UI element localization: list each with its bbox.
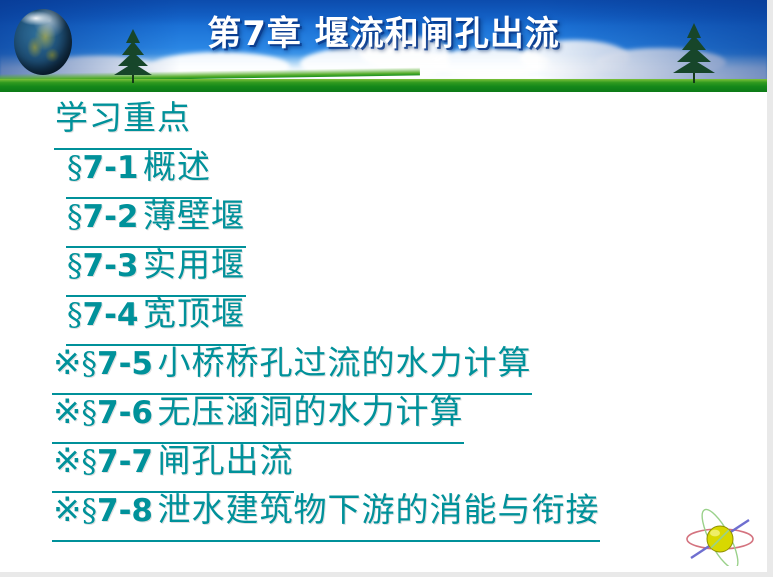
section-number: 7-3 [83,248,139,284]
outline-item-text: ※§7-6 无压涵洞的水力计算 [52,390,464,444]
section-symbol: § [82,395,98,431]
section-number: 7-4 [83,297,139,333]
tree-tier [673,60,715,73]
asterisk-mark-icon: ※ [53,343,82,383]
section-symbol: § [67,150,83,186]
section-symbol: § [67,297,83,333]
section-symbol: § [82,346,98,382]
outline-list: 学习重点 §7-1 概述 §7-2 薄壁堰 §7-3 实用堰 §7-4 宽顶堰 [0,96,760,537]
outline-item-text: §7-1 概述 [66,145,212,199]
section-number: 7-8 [97,493,153,529]
asterisk-mark-icon: ※ [53,392,82,432]
outline-item-7-8[interactable]: ※§7-8 泄水建筑物下游的消能与衔接 [0,488,760,537]
outline-heading[interactable]: 学习重点 [0,96,760,145]
section-title: 小桥桥孔过流的水力计算 [157,343,531,382]
outline-item-7-1[interactable]: §7-1 概述 [0,145,760,194]
section-title: 薄壁堰 [143,196,245,235]
outline-item-text: §7-4 宽顶堰 [66,292,246,346]
outline-item-text: ※§7-8 泄水建筑物下游的消能与衔接 [52,488,600,542]
section-title: 宽顶堰 [143,294,245,333]
section-number: 7-7 [97,444,153,480]
section-number: 7-6 [97,395,153,431]
outline-item-7-6[interactable]: ※§7-6 无压涵洞的水力计算 [0,390,760,439]
outline-item-7-5[interactable]: ※§7-5 小桥桥孔过流的水力计算 [0,341,760,390]
slide-header-banner: 第7章 堰流和闸孔出流 [0,0,767,92]
section-number: 7-2 [83,199,139,235]
section-symbol: § [82,444,98,480]
section-title: 无压涵洞的水力计算 [157,392,463,431]
outline-item-7-7[interactable]: ※§7-7 闸孔出流 [0,439,760,488]
outline-heading-text: 学习重点 [54,96,192,150]
atom-orbit-icon [683,508,757,566]
outline-item-text: ※§7-5 小桥桥孔过流的水力计算 [52,341,532,395]
outline-item-7-2[interactable]: §7-2 薄壁堰 [0,194,760,243]
section-number: 7-1 [83,150,139,186]
section-title: 闸孔出流 [157,441,293,480]
tree-tier [114,63,152,75]
asterisk-mark-icon: ※ [53,441,82,481]
section-title: 概述 [143,147,211,186]
page-title: 第7章 堰流和闸孔出流 [0,12,767,56]
asterisk-mark-icon: ※ [53,490,82,530]
section-title: 泄水建筑物下游的消能与衔接 [157,490,599,529]
section-symbol: § [82,493,98,529]
outline-item-7-4[interactable]: §7-4 宽顶堰 [0,292,760,341]
slide-canvas: 第7章 堰流和闸孔出流 学习重点 §7-1 概述 §7-2 薄壁堰 §7-3 实… [0,0,773,577]
outline-item-7-3[interactable]: §7-3 实用堰 [0,243,760,292]
outline-item-text: §7-2 薄壁堰 [66,194,246,248]
section-number: 7-5 [97,346,153,382]
section-title: 实用堰 [143,245,245,284]
outline-item-text: ※§7-7 闸孔出流 [52,439,294,493]
outline-item-text: §7-3 实用堰 [66,243,246,297]
section-symbol: § [67,199,83,235]
outline-heading-label: 学习重点 [55,98,191,137]
section-symbol: § [67,248,83,284]
